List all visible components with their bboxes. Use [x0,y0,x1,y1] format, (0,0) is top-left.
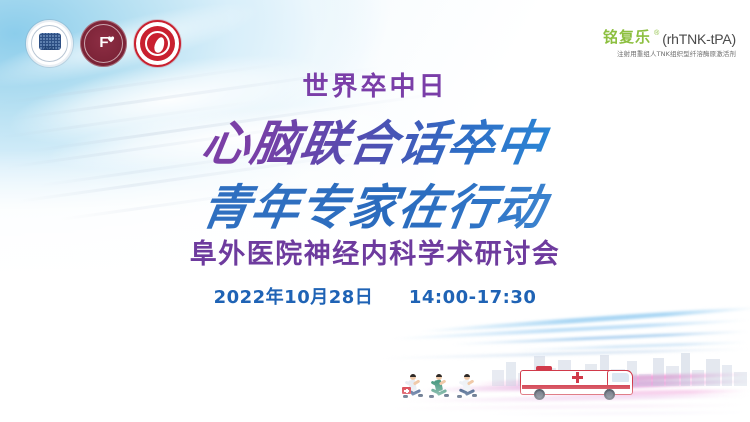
light-streak [380,403,750,411]
logo-globe-emblem: WSO [26,20,73,67]
poster-time: 14:00-17:30 [409,287,537,308]
skyline-building [722,365,732,386]
skyline-building [681,353,690,386]
brand-name-cn: 铭复乐 [603,30,651,45]
brand-name-line: 铭复乐 ® (rhTNK-tPA) [603,30,736,45]
running-medic [456,374,478,404]
skyline-building [639,374,651,386]
medical-bag [402,387,411,394]
medic-hair [436,374,442,377]
ambulance-wheel [534,389,545,400]
medic-hair [410,374,416,377]
medical-cross-icon [572,372,583,383]
event-poster: WSO F 铭复乐 ® (rhTNK-tPA) 注射用重组人TNK组织型纤溶酶原… [0,0,750,422]
ambulance-wheel [604,389,615,400]
medic-shoe [472,394,477,397]
bottom-illustration [380,327,750,422]
skyline-building [706,359,720,386]
registered-mark-icon: ® [654,30,659,37]
medic-shoe [457,395,462,398]
skyline-building [492,370,504,386]
skyline-building [734,372,747,386]
skyline-building [653,358,664,386]
medic-shoe [429,395,434,398]
skyline-building [506,362,516,386]
poster-kicker: 世界卒中日 [0,66,750,103]
poster-subtitle: 阜外医院神经内科学术研讨会 [0,232,750,271]
ambulance [520,366,632,400]
medic-hair [464,374,470,377]
heart-icon [107,35,115,43]
medical-cross-icon [404,390,409,392]
logo-maroon-emblem: F [80,20,127,67]
ambulance-window [612,373,629,382]
headline-line2-wrap: 青年专家在行动 [0,168,750,238]
skyline-building [666,366,679,386]
headline-line1-wrap: 心脑联合话卒中 [0,104,750,174]
light-streak [480,411,750,416]
ambulance-light-bar [536,366,552,371]
medic-shoe [418,394,423,397]
headline-line1: 心脑联合话卒中 [192,104,558,174]
logo-red-emblem [134,20,181,67]
running-medic [428,374,450,404]
headline-line2: 青年专家在行动 [192,168,558,238]
logo-row: WSO F [26,20,181,67]
brand-name-en: (rhTNK-tPA) [662,32,736,46]
medic-shoe [403,395,408,398]
brand-description: 注射用重组人TNK组织型纤溶酶原激活剂 [603,48,736,58]
poster-date: 2022年10月28日 [214,287,374,308]
medic-shoe [444,394,449,397]
running-medic [402,374,424,404]
logo-globe-label: WSO [28,46,71,52]
brand-block: 铭复乐 ® (rhTNK-tPA) 注射用重组人TNK组织型纤溶酶原激活剂 [603,30,736,58]
poster-datetime: 2022年10月28日 14:00-17:30 [0,283,750,309]
skyline-building [692,370,704,386]
